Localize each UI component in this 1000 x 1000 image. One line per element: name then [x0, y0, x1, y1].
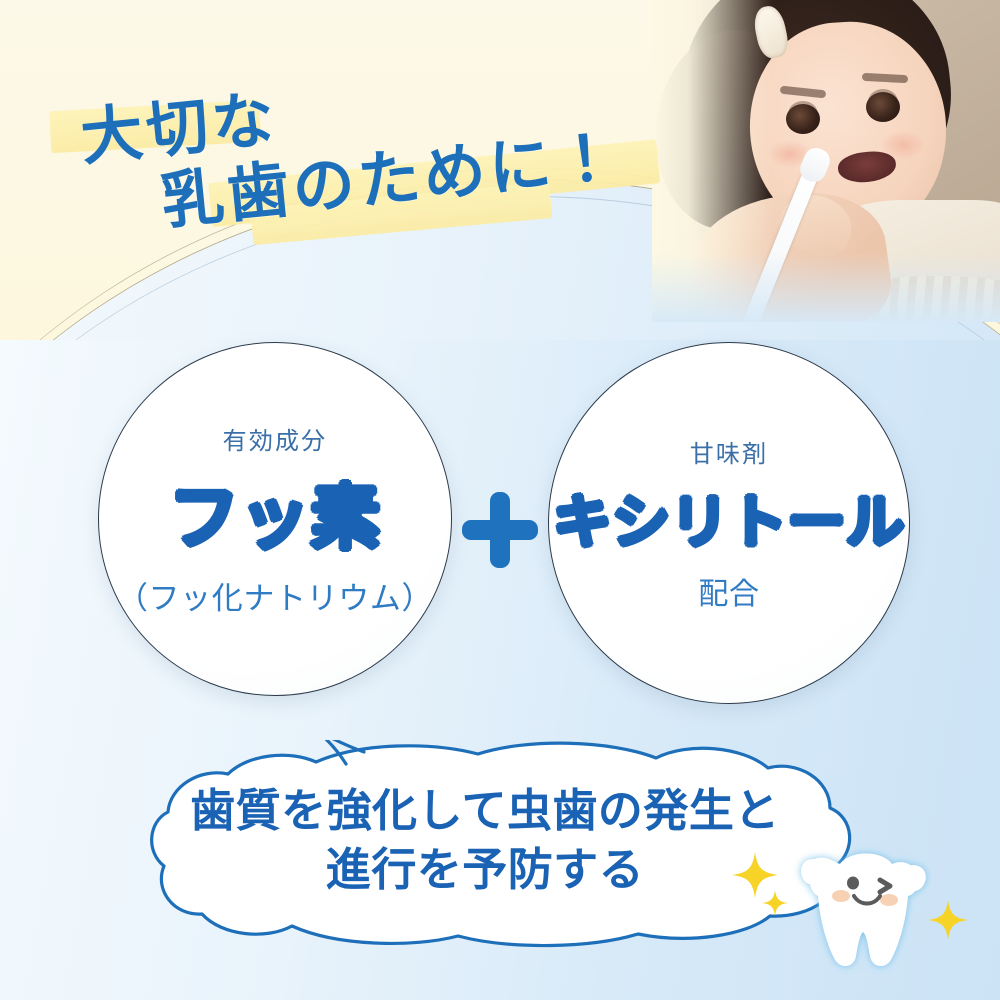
fluoride-caption: 有効成分	[223, 421, 328, 456]
tooth-mascot-icon	[788, 838, 938, 978]
plus-icon	[462, 492, 538, 568]
sparkle-icon-small	[762, 890, 788, 916]
benefit-speech-bubble: 歯質を強化して虫歯の発生と 進行を予防する	[140, 740, 870, 950]
benefit-line-1: 歯質を強化して虫歯の発生と	[140, 782, 830, 841]
cheek-right	[880, 894, 898, 906]
ingredient-circle-xylitol: 甘味剤 キシリトール 配合	[548, 342, 910, 704]
xylitol-subtext: 配合	[698, 569, 759, 613]
ingredient-circle-fluoride: 有効成分 フッ素 （フッ化ナトリウム）	[98, 342, 452, 696]
benefit-text: 歯質を強化して虫歯の発生と 進行を予防する	[140, 782, 830, 899]
cheek-left	[832, 890, 850, 902]
fluoride-subtext: （フッ化ナトリウム）	[117, 573, 433, 618]
xylitol-name: キシリトール	[553, 475, 904, 559]
eye-open	[847, 877, 859, 890]
benefit-line-2: 進行を予防する	[140, 841, 830, 900]
xylitol-caption: 甘味剤	[690, 434, 768, 469]
poster-root: 大切な 乳歯のために！ 有効成分 フッ素 （フッ化ナトリウム） 甘味剤 キシリト…	[0, 0, 1000, 1000]
child-toothbrushing-photo	[652, 0, 1000, 322]
fluoride-name: フッ素	[169, 462, 381, 563]
